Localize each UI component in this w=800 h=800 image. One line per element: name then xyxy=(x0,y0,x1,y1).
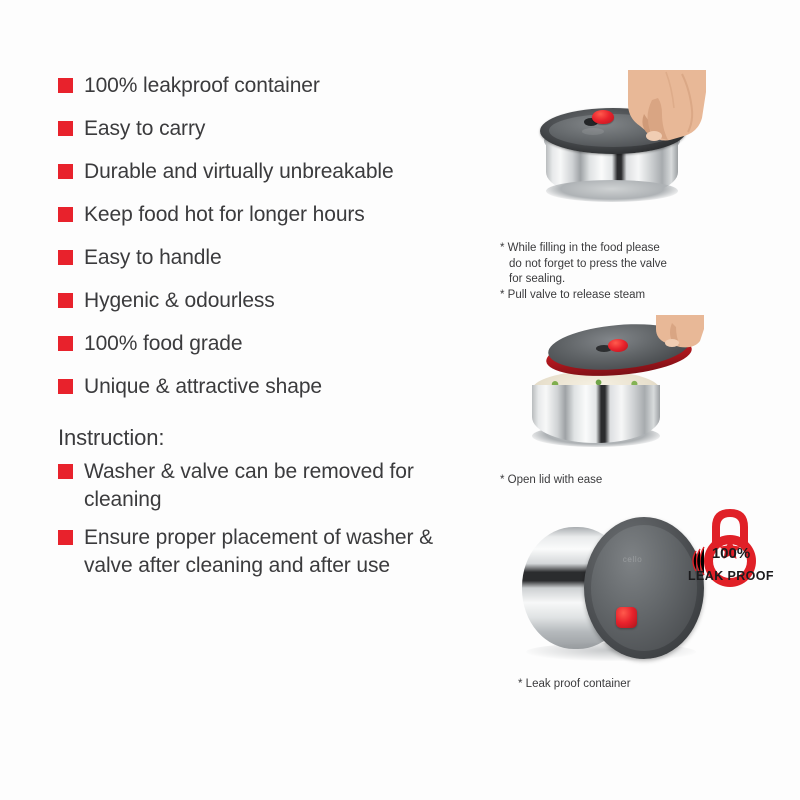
feature-label: Easy to carry xyxy=(84,115,205,142)
hand-lifting-lid-icon xyxy=(652,315,706,349)
feature-item: Hygenic & odourless xyxy=(58,287,488,314)
caption-line: for sealing. xyxy=(500,272,790,288)
open-lid-photo xyxy=(500,321,790,471)
instruction-section: Instruction: Washer & valve can be remov… xyxy=(58,424,488,580)
feature-item: Unique & attractive shape xyxy=(58,373,488,400)
instruction-heading: Instruction: xyxy=(58,424,488,452)
leak-proof-caption: * Leak proof container xyxy=(500,677,790,693)
caption-line: * While filling in the food please xyxy=(500,241,790,257)
hand-pressing-icon xyxy=(622,70,708,166)
container-base-shadow xyxy=(546,180,678,202)
red-valve xyxy=(608,339,628,352)
feature-item: 100% leakproof container xyxy=(58,72,488,99)
instruction-item: Washer & valve can be removed for cleani… xyxy=(58,458,488,514)
feature-label: Hygenic & odourless xyxy=(84,287,275,314)
product-infographic: 100% leakproof container Easy to carry D… xyxy=(0,0,800,800)
red-valve xyxy=(592,110,614,124)
feature-label: 100% food grade xyxy=(84,330,242,357)
features-column: 100% leakproof container Easy to carry D… xyxy=(58,72,488,590)
brand-logo: cello xyxy=(623,555,642,564)
press-valve-photo xyxy=(500,72,790,237)
bullet-square-icon xyxy=(58,379,73,394)
feature-item: Durable and virtually unbreakable xyxy=(58,158,488,185)
bullet-square-icon xyxy=(58,207,73,222)
feature-label: Unique & attractive shape xyxy=(84,373,322,400)
press-valve-photo-block: * While filling in the food please do no… xyxy=(500,72,790,303)
bullet-square-icon xyxy=(58,250,73,265)
feature-item: 100% food grade xyxy=(58,330,488,357)
bullet-square-icon xyxy=(58,78,73,93)
leak-proof-photo-block: cello 100% LEAK PROOF xyxy=(500,503,790,693)
feature-label: Easy to handle xyxy=(84,244,222,271)
bullet-square-icon xyxy=(58,164,73,179)
leak-proof-photo: cello 100% LEAK PROOF xyxy=(500,503,790,673)
red-valve xyxy=(616,607,637,628)
caption-line: do not forget to press the valve xyxy=(500,257,790,273)
caption-line: * Pull valve to release steam xyxy=(500,288,790,304)
open-lid-caption: * Open lid with ease xyxy=(500,473,790,489)
lid-emboss xyxy=(582,128,604,135)
feature-item: Easy to carry xyxy=(58,115,488,142)
bullet-square-icon xyxy=(58,121,73,136)
feature-item: Keep food hot for longer hours xyxy=(58,201,488,228)
press-valve-caption: * While filling in the food please do no… xyxy=(500,241,790,303)
instruction-label: Washer & valve can be removed for cleani… xyxy=(84,458,464,514)
badge-leak-proof-label: LEAK PROOF xyxy=(676,569,786,583)
instruction-item: Ensure proper placement of washer & valv… xyxy=(58,524,488,580)
feature-label: 100% leakproof container xyxy=(84,72,320,99)
feature-item: Easy to handle xyxy=(58,244,488,271)
badge-percent-label: 100% xyxy=(696,545,766,562)
bullet-square-icon xyxy=(58,464,73,479)
photos-column: * While filling in the food please do no… xyxy=(500,72,790,692)
feature-label: Keep food hot for longer hours xyxy=(84,201,365,228)
bullet-square-icon xyxy=(58,530,73,545)
feature-label: Durable and virtually unbreakable xyxy=(84,158,394,185)
open-lid-photo-block: * Open lid with ease xyxy=(500,321,790,489)
bullet-square-icon xyxy=(58,336,73,351)
bullet-square-icon xyxy=(58,293,73,308)
instruction-label: Ensure proper placement of washer & valv… xyxy=(84,524,464,580)
steel-container-body xyxy=(532,385,660,443)
